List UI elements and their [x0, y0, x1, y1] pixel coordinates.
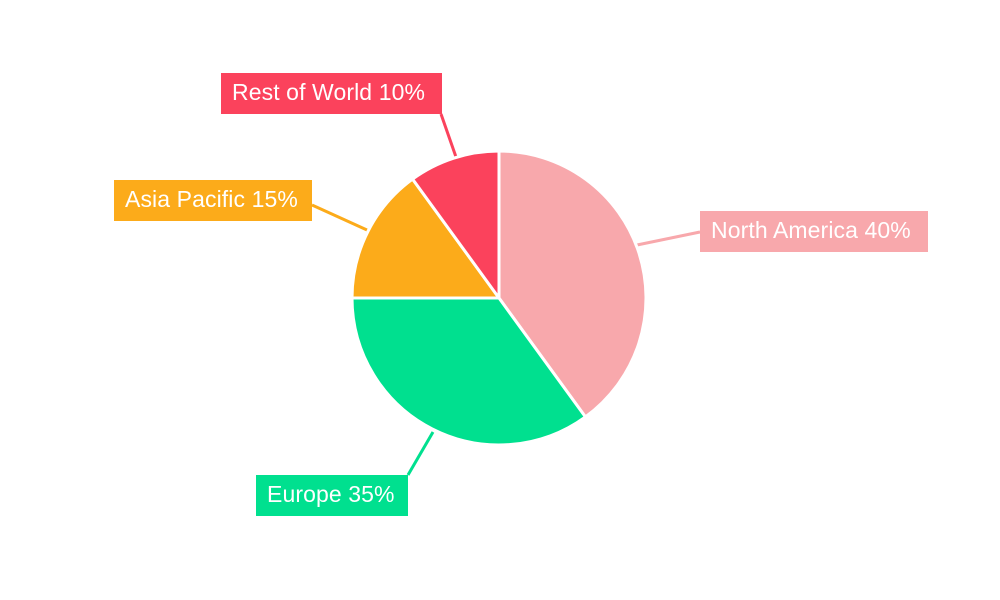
chart-canvas: North America 40%Europe 35%Asia Pacific …	[0, 0, 1000, 600]
pie-slice-label-text: Asia Pacific 15%	[125, 188, 298, 211]
pie-slice-label-text: Rest of World 10%	[232, 81, 425, 104]
pie-slice-label: Rest of World 10%	[221, 73, 442, 114]
leader-line	[441, 114, 456, 157]
leader-line	[312, 205, 367, 230]
pie-slice-label: Europe 35%	[256, 475, 408, 516]
leader-line	[637, 232, 700, 245]
pie-slice-label: North America 40%	[700, 211, 928, 252]
pie-slice-label: Asia Pacific 15%	[114, 180, 312, 221]
pie-slices	[352, 151, 646, 445]
pie-slice-label-text: Europe 35%	[267, 483, 395, 506]
pie-chart	[0, 0, 1000, 600]
pie-slice-label-text: North America 40%	[711, 219, 911, 242]
leader-line	[408, 432, 433, 475]
